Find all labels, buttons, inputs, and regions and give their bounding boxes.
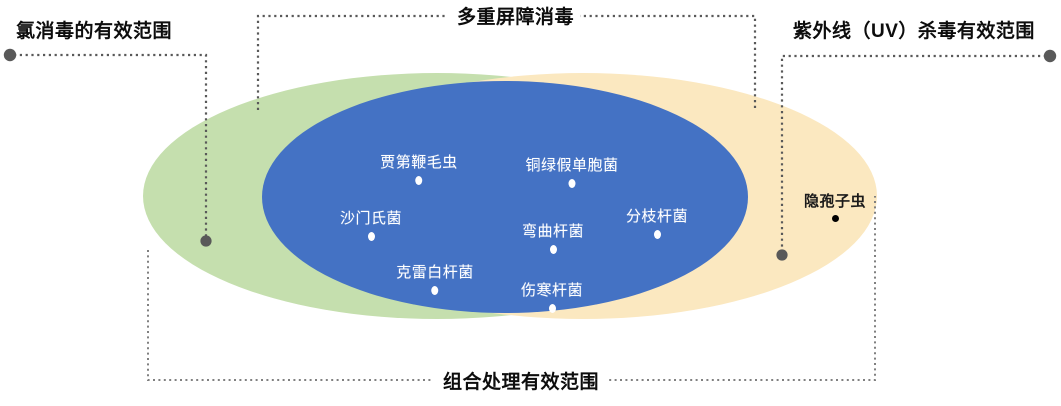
- organism-marker: 贾第鞭毛虫: [380, 155, 458, 185]
- organism-marker: 弯曲杆菌: [522, 224, 584, 254]
- combined-zone-ellipse: [262, 81, 748, 313]
- organism-marker: 沙门氏菌: [340, 211, 402, 241]
- organism-marker: 分枝杆菌: [626, 209, 688, 239]
- organism-label: 沙门氏菌: [340, 211, 402, 228]
- organism-dot-icon: [568, 179, 575, 188]
- organism-dot-icon: [415, 176, 422, 185]
- organism-marker: 铜绿假单胞菌: [525, 158, 618, 188]
- diagram-graphics-layer: [0, 0, 1061, 406]
- multi-barrier-label: 多重屏障消毒: [451, 2, 580, 29]
- uv-zone-pointer-marker: [776, 249, 787, 260]
- organism-marker: 隐孢子虫: [804, 194, 866, 222]
- organism-label: 贾第鞭毛虫: [380, 155, 458, 172]
- organism-marker: 克雷白杆菌: [396, 265, 474, 295]
- organism-label: 克雷白杆菌: [396, 265, 474, 282]
- uv-zone-label: 紫外线（UV）杀毒有效范围: [793, 16, 1035, 43]
- organism-dot-icon: [431, 286, 438, 295]
- organism-label: 分枝杆菌: [626, 209, 688, 226]
- diagram-canvas: 氯消毒的有效范围 紫外线（UV）杀毒有效范围 多重屏障消毒 组合处理有效范围 贾…: [0, 0, 1061, 406]
- organism-dot-icon: [548, 304, 555, 313]
- chlorine-zone-label: 氯消毒的有效范围: [16, 16, 172, 43]
- organism-dot-icon: [549, 245, 556, 254]
- organism-label: 弯曲杆菌: [522, 224, 584, 241]
- organism-label: 隐孢子虫: [804, 194, 866, 211]
- organism-label: 伤寒杆菌: [521, 283, 583, 300]
- organism-dot-icon: [653, 230, 660, 239]
- chlorine-left-endpoint-marker: [4, 49, 16, 61]
- organism-marker: 伤寒杆菌: [521, 283, 583, 313]
- organism-label: 铜绿假单胞菌: [525, 158, 618, 175]
- organism-dot-icon: [831, 215, 838, 222]
- chlorine-zone-pointer-marker: [200, 235, 211, 246]
- combined-range-label: 组合处理有效范围: [436, 367, 606, 394]
- uv-right-endpoint-marker: [1044, 50, 1056, 62]
- organism-dot-icon: [367, 232, 374, 241]
